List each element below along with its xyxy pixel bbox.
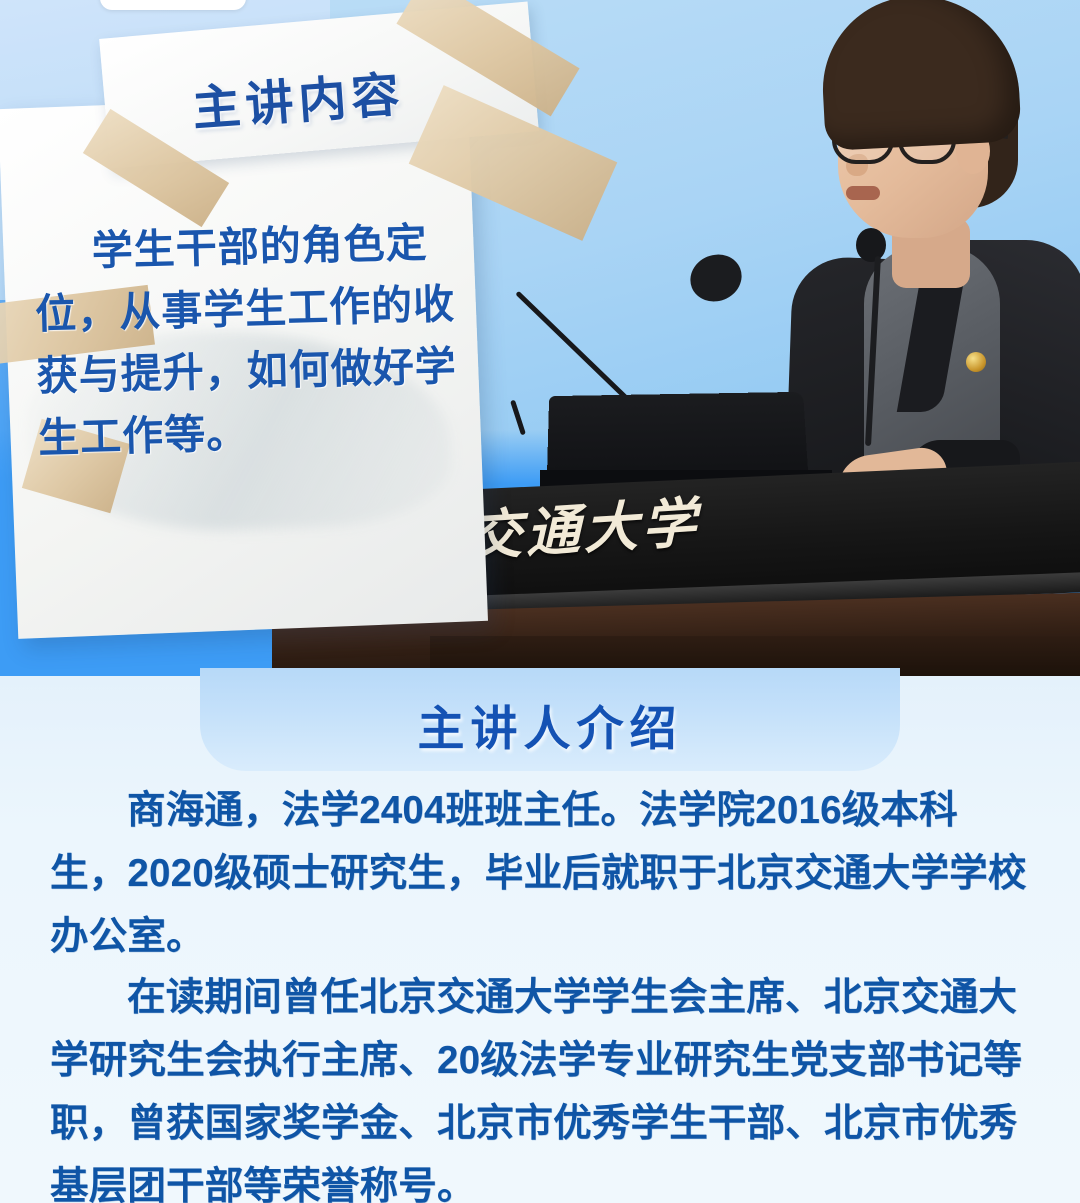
speaker-intro-banner: 主讲人介绍 — [200, 668, 900, 771]
poster-root: 北京交通大学 主讲内容 学生干部的角色定位，从事学生工作的收获与提升，如何做好学… — [0, 0, 1080, 1203]
speaker-intro-title: 主讲人介绍 — [200, 690, 900, 759]
lapel-microphone-icon — [856, 228, 886, 262]
top-rounded-pill[interactable] — [100, 0, 246, 10]
hair — [818, 0, 1022, 151]
speaker-intro-paragraph-2: 在读期间曾任北京交通大学学生会主席、北京交通大学研究生会执行主席、20级法学专业… — [50, 966, 1035, 1203]
hero-section: 北京交通大学 主讲内容 学生干部的角色定位，从事学生工作的收获与提升，如何做好学… — [0, 0, 1080, 676]
content-note-body: 学生干部的角色定位，从事学生工作的收获与提升，如何做好学生工作等。 — [33, 211, 471, 469]
lapel-pin-icon — [966, 352, 986, 372]
mouth — [846, 186, 880, 200]
speaker-intro-section: 主讲人介绍 商海通，法学2404班班主任。法学院2016级本科生，2020级硕士… — [0, 676, 1080, 1203]
speaker-intro-paragraph-1: 商海通，法学2404班班主任。法学院2016级本科生，2020级硕士研究生，毕业… — [50, 779, 1035, 968]
